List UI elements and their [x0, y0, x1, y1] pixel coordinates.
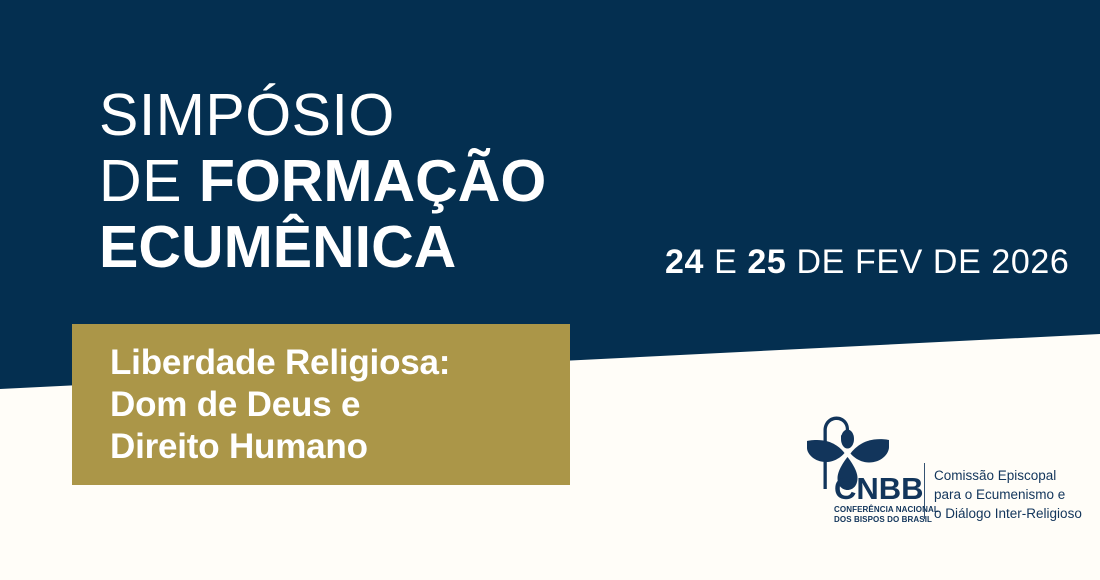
event-date-day-2: 25 — [747, 243, 786, 281]
commission-line-3: o Diálogo Inter-Religioso — [934, 504, 1082, 523]
commission-text: Comissão Episcopal para o Ecumenismo e o… — [934, 466, 1082, 525]
commission-line-2: para o Ecumenismo e — [934, 485, 1082, 504]
headline-line-2-bold: FORMAÇÃO — [199, 148, 546, 214]
event-headline: SIMPÓSIO DE FORMAÇÃO ECUMÊNICA — [99, 86, 546, 277]
headline-line-1: SIMPÓSIO — [99, 86, 546, 152]
theme-line-2: Dom de Deus e — [110, 384, 570, 426]
logo-divider — [924, 463, 925, 519]
theme-line-3: Direito Humano — [110, 426, 570, 468]
commission-line-1: Comissão Episcopal — [934, 466, 1082, 485]
headline-line-2: DE FORMAÇÃO — [99, 152, 546, 218]
event-date-conjunction: E — [704, 243, 747, 281]
event-date-month-year: DE FEV DE 2026 — [786, 243, 1069, 281]
cnbb-wordmark: CNBB — [834, 473, 924, 504]
cnbb-logo-block: CNBB CONFERÊNCIA NACIONAL DOS BISPOS DO … — [804, 413, 920, 525]
cnbb-logo-lockup: CNBB CONFERÊNCIA NACIONAL DOS BISPOS DO … — [804, 413, 1082, 525]
headline-line-2-light: DE — [99, 148, 199, 214]
event-date-day-1: 24 — [665, 243, 704, 281]
theme-line-1: Liberdade Religiosa: — [110, 342, 570, 384]
cnbb-subtitle-line-2: DOS BISPOS DO BRASIL — [834, 515, 932, 524]
event-theme-box: Liberdade Religiosa: Dom de Deus e Direi… — [72, 324, 570, 485]
headline-line-3: ECUMÊNICA — [99, 218, 546, 277]
event-banner: SIMPÓSIO DE FORMAÇÃO ECUMÊNICA 24 E 25 D… — [0, 0, 1100, 580]
event-date: 24 E 25 DE FEV DE 2026 — [665, 243, 1069, 282]
